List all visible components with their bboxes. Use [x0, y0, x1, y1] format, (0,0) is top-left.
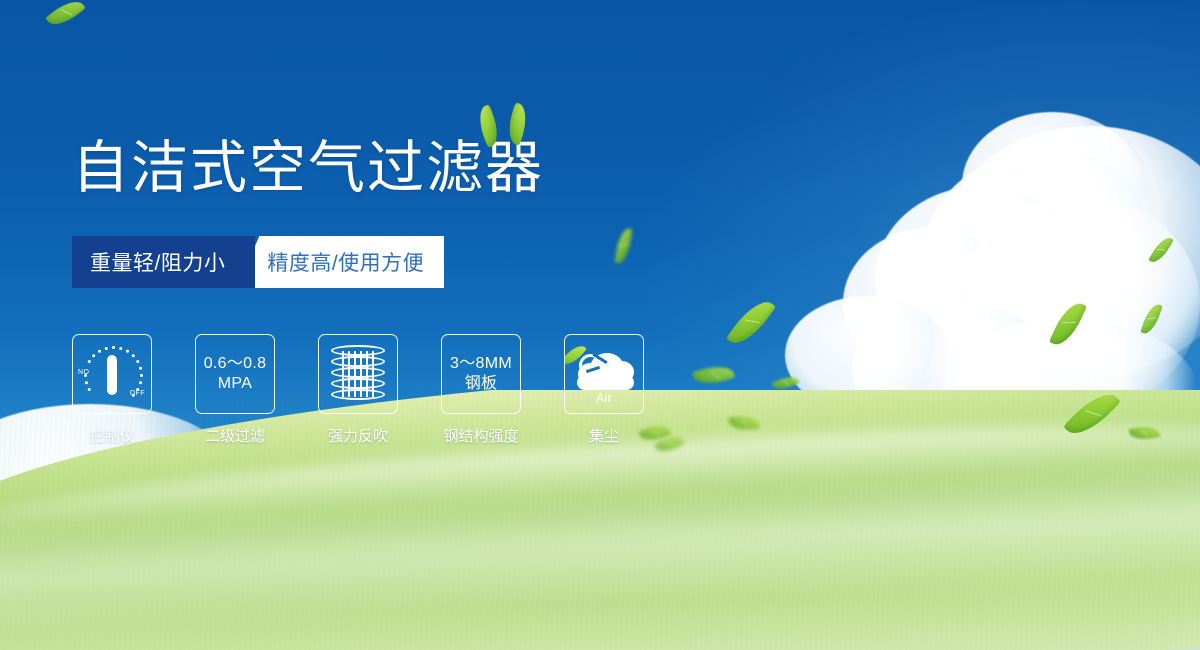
steel-plate-icon: 3〜8MM 钢板 [450, 354, 512, 393]
cartridge-ring [331, 367, 385, 378]
sprout-leaf-right [503, 102, 532, 145]
feature-icon-box: Air [564, 334, 644, 414]
cartridge-ring [331, 378, 385, 389]
air-label: Air [572, 391, 636, 405]
cartridge-ring [331, 345, 385, 356]
feature-label: 强力反吹 [328, 425, 388, 446]
feature-item-dust-collection[interactable]: Air 集尘 [564, 334, 644, 446]
feature-label: 钢结构强度 [443, 425, 518, 446]
page-title: 自洁式空气过滤器 [72, 140, 544, 197]
feature-label: 集尘 [589, 425, 619, 446]
pressure-value-line2: MPA [204, 374, 267, 394]
gauge-tick [88, 388, 91, 391]
feature-icon-box [318, 334, 398, 414]
feature-label: 控制仪 [89, 425, 134, 446]
gauge-tick [85, 381, 88, 384]
air-cloud-icon: Air [572, 345, 636, 403]
feature-item-two-stage-filter[interactable]: 0.6〜0.8 MPA 二级过滤 [195, 334, 275, 446]
cloud-base-shape [577, 375, 634, 390]
gauge-tick [119, 347, 122, 350]
title-block: 自洁式空气过滤器 [72, 140, 544, 197]
tagline-right: 精度高/使用方便 [237, 236, 444, 288]
feature-item-steel-strength[interactable]: 3〜8MM 钢板 钢结构强度 [441, 334, 521, 446]
pressure-value-line1: 0.6〜0.8 [204, 354, 267, 374]
sprout-leaves-icon [476, 104, 536, 148]
gauge-controller-icon: NO OFF [77, 343, 147, 405]
gauge-tick [126, 350, 129, 353]
gauge-tick [139, 367, 142, 370]
gauge-tick [132, 354, 135, 357]
steel-plate-line2: 钢板 [450, 374, 512, 394]
gauge-tick [98, 350, 101, 353]
tagline-bar: 重量轻/阻力小 精度高/使用方便 [72, 236, 444, 288]
feature-item-controller[interactable]: NO OFF [72, 334, 152, 446]
gauge-tick [92, 354, 95, 357]
gauge-tick [140, 374, 143, 377]
gauge-tick [84, 374, 87, 377]
gauge-tick [139, 381, 142, 384]
gauge-tick [105, 347, 108, 350]
steel-plate-line1: 3〜8MM [450, 354, 512, 374]
filter-cartridge-icon [331, 345, 385, 403]
gauge-tick [136, 388, 139, 391]
sprout-leaf-left [473, 104, 504, 147]
feature-item-blowback[interactable]: 强力反吹 [318, 334, 398, 446]
feature-label: 二级过滤 [205, 425, 265, 446]
feature-icon-box: NO OFF [72, 334, 152, 414]
gauge-needle [107, 355, 117, 395]
hero-banner: 自洁式空气过滤器 重量轻/阻力小 精度高/使用方便 NO OFF [0, 0, 1200, 650]
tagline-left: 重量轻/阻力小 [72, 236, 255, 288]
feature-list: NO OFF [72, 334, 644, 446]
cartridge-ring [331, 389, 385, 400]
feature-icon-box: 0.6〜0.8 MPA [195, 334, 275, 414]
gauge-tick [132, 394, 135, 397]
gauge-tick [88, 360, 91, 363]
gauge-tick [136, 360, 139, 363]
grass-shade [0, 530, 1200, 650]
gauge-tick [112, 346, 115, 349]
cartridge-ring [331, 356, 385, 367]
pressure-value-icon: 0.6〜0.8 MPA [204, 354, 267, 393]
feature-icon-box: 3〜8MM 钢板 [441, 334, 521, 414]
